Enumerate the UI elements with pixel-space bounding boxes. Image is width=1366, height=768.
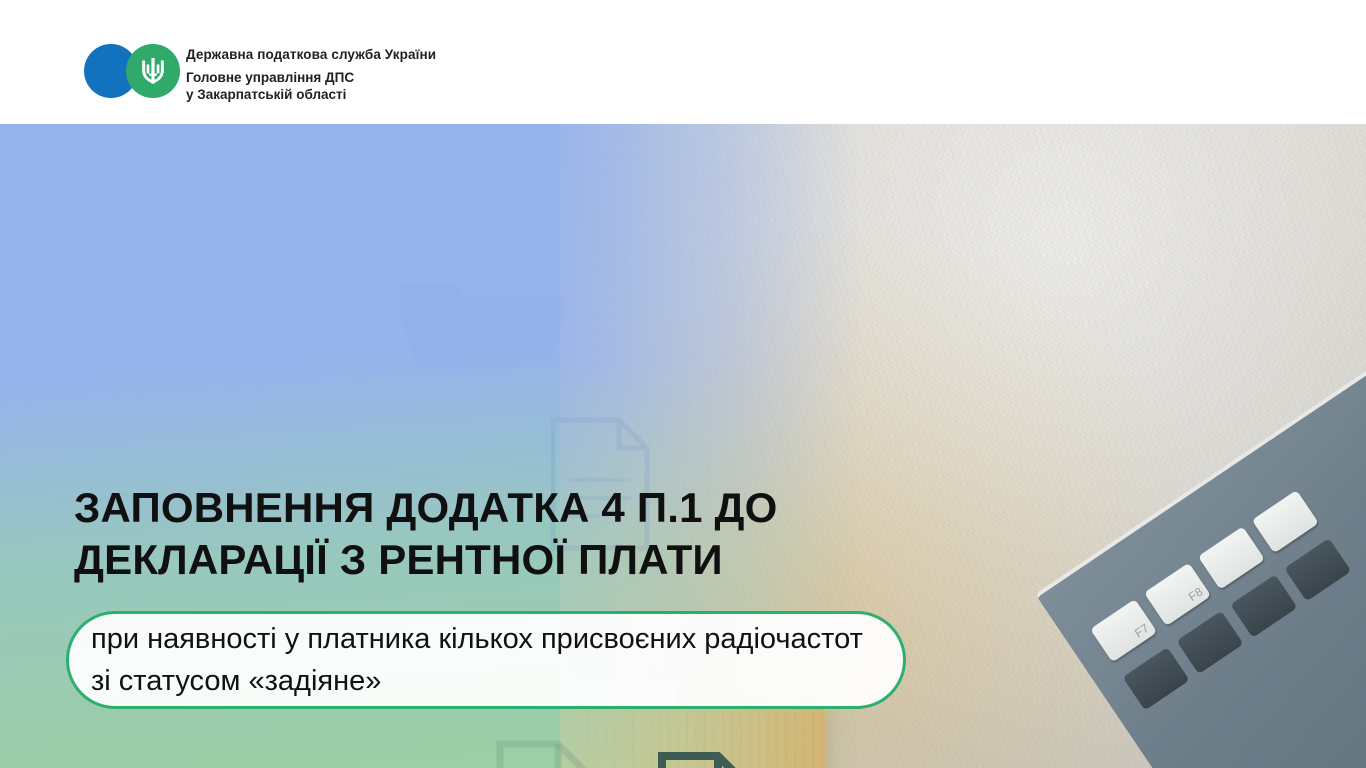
org-name-primary: Державна податкова служба України (186, 46, 436, 63)
slide-title-line-1: ЗАПОВНЕННЯ ДОДАТКА 4 П.1 ДО (74, 484, 778, 531)
dps-logo (84, 44, 180, 98)
document-page-icon (655, 749, 755, 768)
slide-canvas: Державна податкова служба України Головн… (0, 0, 1366, 768)
document-outline-icon (492, 736, 600, 768)
organization-names: Державна податкова служба України Головн… (186, 46, 436, 103)
org-name-department: Головне управління ДПС (186, 69, 436, 86)
slide-title: ЗАПОВНЕННЯ ДОДАТКА 4 П.1 ДО ДЕКЛАРАЦІЇ З… (74, 482, 954, 586)
slide-subtitle-text: при наявності у платника кількох присвоє… (69, 618, 903, 702)
slide-subtitle-box: при наявності у платника кількох присвоє… (66, 611, 906, 709)
slide-title-line-2: ДЕКЛАРАЦІЇ З РЕНТНОЇ ПЛАТИ (74, 534, 954, 586)
org-name-region: у Закарпатській області (186, 86, 436, 103)
folder-icon (395, 257, 575, 377)
ukraine-trident-emblem-icon (140, 56, 166, 86)
page-header: Державна податкова служба України Головн… (0, 0, 1366, 124)
slide-subtitle-line-1: при наявності у платника кількох присвоє… (91, 623, 696, 655)
hero-banner: F7 F8 (0, 124, 1366, 768)
